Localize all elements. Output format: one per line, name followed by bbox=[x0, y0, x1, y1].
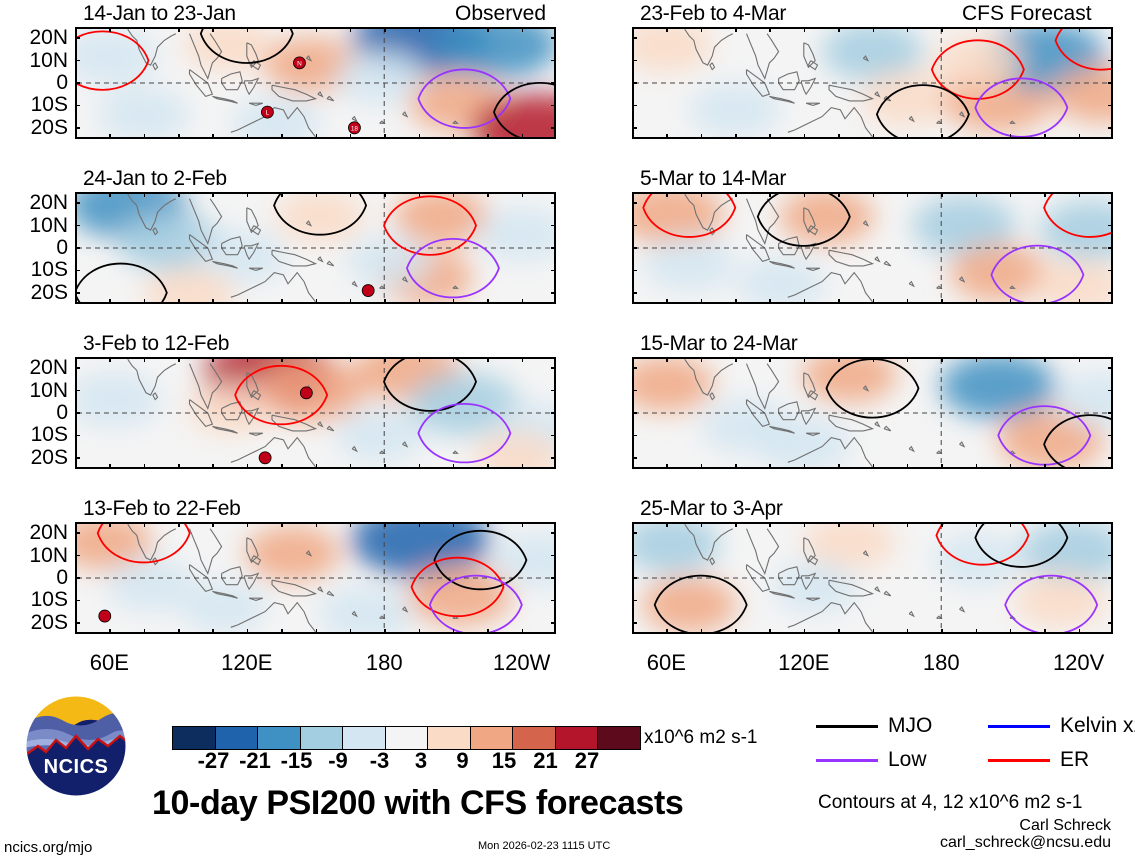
y-tick bbox=[632, 292, 637, 294]
field-plot: NL18 bbox=[77, 29, 554, 137]
panel-title: 13-Feb to 22-Feb bbox=[83, 498, 240, 519]
field-plot bbox=[634, 524, 1111, 632]
x-tick bbox=[281, 299, 283, 304]
legend-label: MJO bbox=[888, 714, 932, 738]
colorbar-swatch[interactable] bbox=[555, 727, 598, 749]
x-tick bbox=[384, 522, 386, 527]
x-tick bbox=[144, 629, 146, 634]
y-tick bbox=[75, 202, 80, 204]
x-tick bbox=[316, 192, 318, 197]
map-axes[interactable] bbox=[75, 192, 556, 304]
x-tick bbox=[281, 522, 283, 527]
x-tick bbox=[247, 522, 249, 527]
y-axis-label: 20S bbox=[0, 282, 68, 303]
y-tick bbox=[75, 270, 80, 272]
x-tick bbox=[247, 299, 249, 304]
y-tick bbox=[632, 60, 637, 62]
x-tick bbox=[976, 522, 978, 527]
author-credit: Carl Schreck carl_schreck@ncsu.edu bbox=[940, 817, 1111, 851]
legend-line-swatch bbox=[988, 725, 1050, 728]
map-axes[interactable] bbox=[632, 192, 1113, 304]
logo-wordmark: NCICS bbox=[24, 756, 128, 779]
x-tick bbox=[522, 299, 524, 304]
colorbar-tick: -27 bbox=[198, 750, 230, 772]
x-tick bbox=[666, 192, 668, 197]
y-tick bbox=[75, 532, 80, 534]
x-tick bbox=[487, 299, 489, 304]
x-tick bbox=[350, 629, 352, 634]
y-tick bbox=[551, 225, 556, 227]
y-tick bbox=[1108, 390, 1113, 392]
x-tick bbox=[384, 464, 386, 469]
y-tick bbox=[1108, 412, 1113, 414]
colorbar-swatch[interactable] bbox=[427, 727, 470, 749]
x-tick bbox=[701, 357, 703, 362]
x-tick bbox=[838, 192, 840, 197]
x-tick bbox=[350, 134, 352, 139]
y-tick bbox=[1108, 60, 1113, 62]
x-tick bbox=[701, 134, 703, 139]
colorbar-tick: -21 bbox=[239, 750, 271, 772]
colorbar-swatch[interactable] bbox=[597, 727, 640, 749]
map-axes[interactable]: NL18 bbox=[75, 27, 556, 139]
x-tick bbox=[907, 299, 909, 304]
map-axes[interactable] bbox=[632, 357, 1113, 469]
y-tick bbox=[1108, 457, 1113, 459]
x-tick bbox=[487, 357, 489, 362]
map-axes[interactable] bbox=[75, 522, 556, 634]
x-tick bbox=[178, 629, 180, 634]
x-tick bbox=[350, 299, 352, 304]
legend-line-swatch bbox=[988, 759, 1050, 762]
x-tick bbox=[976, 629, 978, 634]
x-tick bbox=[419, 192, 421, 197]
x-tick bbox=[1044, 299, 1046, 304]
x-tick bbox=[178, 522, 180, 527]
x-tick bbox=[804, 629, 806, 634]
panel-title: 23-Feb to 4-Mar bbox=[640, 3, 786, 24]
y-axis-label: 20N bbox=[0, 522, 68, 543]
x-tick bbox=[976, 299, 978, 304]
x-tick bbox=[873, 357, 875, 362]
x-tick bbox=[769, 192, 771, 197]
field-plot bbox=[634, 29, 1111, 137]
y-axis-label: 20S bbox=[0, 447, 68, 468]
x-tick bbox=[144, 464, 146, 469]
legend-line-swatch bbox=[816, 759, 878, 762]
x-tick bbox=[1079, 299, 1081, 304]
x-tick bbox=[522, 629, 524, 634]
y-tick bbox=[75, 60, 80, 62]
y-axis-label: 20N bbox=[0, 357, 68, 378]
y-tick bbox=[632, 367, 637, 369]
y-tick bbox=[632, 202, 637, 204]
y-tick bbox=[632, 622, 637, 624]
x-tick bbox=[1010, 464, 1012, 469]
y-tick bbox=[1108, 105, 1113, 107]
x-tick bbox=[144, 299, 146, 304]
y-tick bbox=[1108, 37, 1113, 39]
x-tick bbox=[1010, 629, 1012, 634]
y-tick bbox=[551, 390, 556, 392]
x-tick bbox=[522, 192, 524, 197]
x-tick bbox=[419, 357, 421, 362]
x-tick bbox=[804, 522, 806, 527]
legend-label: ER bbox=[1060, 748, 1089, 772]
contours-note: Contours at 4, 12 x10^6 m2 s-1 bbox=[818, 793, 1083, 812]
x-tick bbox=[247, 134, 249, 139]
x-tick bbox=[487, 192, 489, 197]
timestamp-label: Mon 2026-02-23 1115 UTC bbox=[478, 841, 610, 852]
panel-title: 15-Mar to 24-Mar bbox=[640, 333, 797, 354]
x-tick bbox=[976, 192, 978, 197]
x-tick bbox=[769, 134, 771, 139]
y-tick bbox=[551, 600, 556, 602]
x-tick bbox=[666, 464, 668, 469]
x-tick bbox=[907, 134, 909, 139]
y-tick bbox=[551, 247, 556, 249]
x-tick bbox=[1079, 357, 1081, 362]
y-axis-label: 10S bbox=[0, 259, 68, 280]
y-tick bbox=[75, 577, 80, 579]
x-tick bbox=[873, 134, 875, 139]
site-url-label: ncics.org/mjo bbox=[4, 840, 92, 855]
y-tick bbox=[75, 600, 80, 602]
x-tick bbox=[907, 522, 909, 527]
x-tick bbox=[735, 464, 737, 469]
column-tag: Observed bbox=[455, 3, 546, 24]
colorbar-swatch[interactable] bbox=[173, 727, 215, 749]
x-tick bbox=[144, 134, 146, 139]
x-tick bbox=[212, 357, 214, 362]
x-tick bbox=[735, 192, 737, 197]
field-plot bbox=[634, 194, 1111, 302]
page-title: 10-day PSI200 with CFS forecasts bbox=[152, 786, 683, 820]
y-axis-label: 10N bbox=[0, 215, 68, 236]
x-tick bbox=[247, 464, 249, 469]
x-tick bbox=[666, 357, 668, 362]
x-tick bbox=[1010, 522, 1012, 527]
x-tick bbox=[522, 522, 524, 527]
x-tick bbox=[419, 629, 421, 634]
y-axis-label: 20N bbox=[0, 192, 68, 213]
x-tick bbox=[178, 299, 180, 304]
y-tick bbox=[632, 225, 637, 227]
x-tick bbox=[384, 299, 386, 304]
x-tick bbox=[769, 629, 771, 634]
colorbar-tick: -15 bbox=[281, 750, 313, 772]
colorbar-swatch[interactable] bbox=[470, 727, 513, 749]
x-tick bbox=[1079, 192, 1081, 197]
x-tick bbox=[487, 629, 489, 634]
y-tick bbox=[551, 60, 556, 62]
x-tick bbox=[487, 27, 489, 32]
y-tick bbox=[1108, 532, 1113, 534]
x-tick bbox=[838, 299, 840, 304]
y-tick bbox=[1108, 600, 1113, 602]
x-tick bbox=[453, 629, 455, 634]
x-tick bbox=[316, 27, 318, 32]
x-tick bbox=[350, 522, 352, 527]
y-tick bbox=[632, 270, 637, 272]
x-tick bbox=[212, 192, 214, 197]
x-tick bbox=[1079, 629, 1081, 634]
x-tick bbox=[1010, 134, 1012, 139]
y-tick bbox=[75, 225, 80, 227]
x-tick bbox=[873, 27, 875, 32]
x-tick bbox=[350, 192, 352, 197]
svg-text:N: N bbox=[297, 60, 302, 67]
x-tick bbox=[1010, 299, 1012, 304]
y-axis-label: 10S bbox=[0, 589, 68, 610]
legend-line-swatch bbox=[816, 725, 878, 728]
field-plot bbox=[77, 194, 554, 302]
x-tick bbox=[281, 464, 283, 469]
x-tick bbox=[1079, 134, 1081, 139]
x-tick bbox=[212, 464, 214, 469]
ncics-logo[interactable]: NCICS bbox=[24, 694, 128, 798]
y-axis-label: 10N bbox=[0, 380, 68, 401]
x-tick bbox=[109, 357, 111, 362]
svg-text:18: 18 bbox=[351, 125, 359, 132]
column-tag: CFS Forecast bbox=[962, 3, 1092, 24]
x-tick bbox=[522, 27, 524, 32]
cyclone-marker bbox=[362, 285, 374, 297]
y-tick bbox=[551, 37, 556, 39]
x-tick bbox=[941, 299, 943, 304]
x-tick bbox=[907, 357, 909, 362]
x-tick bbox=[804, 27, 806, 32]
x-tick bbox=[941, 629, 943, 634]
y-tick bbox=[551, 292, 556, 294]
x-tick bbox=[522, 464, 524, 469]
y-tick bbox=[1108, 225, 1113, 227]
x-tick bbox=[1044, 629, 1046, 634]
y-tick bbox=[551, 202, 556, 204]
x-tick bbox=[316, 299, 318, 304]
x-tick bbox=[701, 464, 703, 469]
colorbar-swatch[interactable] bbox=[300, 727, 343, 749]
x-tick bbox=[735, 629, 737, 634]
colorbar[interactable] bbox=[172, 726, 641, 750]
x-axis-label: 180 bbox=[923, 652, 960, 674]
x-tick bbox=[666, 629, 668, 634]
x-tick bbox=[453, 357, 455, 362]
x-tick bbox=[144, 522, 146, 527]
x-axis-label: 60E bbox=[90, 652, 129, 674]
x-tick bbox=[350, 464, 352, 469]
y-axis-label: 20S bbox=[0, 612, 68, 633]
y-tick bbox=[551, 622, 556, 624]
y-tick bbox=[1108, 292, 1113, 294]
colorbar-swatch[interactable] bbox=[215, 727, 258, 749]
x-tick bbox=[873, 299, 875, 304]
y-tick bbox=[75, 127, 80, 129]
y-tick bbox=[75, 555, 80, 557]
x-tick bbox=[247, 27, 249, 32]
colorbar-swatch[interactable] bbox=[385, 727, 428, 749]
y-tick bbox=[632, 127, 637, 129]
y-tick bbox=[551, 435, 556, 437]
x-tick bbox=[976, 134, 978, 139]
colorbar-swatch[interactable] bbox=[512, 727, 555, 749]
x-tick bbox=[178, 464, 180, 469]
y-tick bbox=[632, 37, 637, 39]
legend-label: Low bbox=[888, 748, 927, 772]
y-tick bbox=[75, 37, 80, 39]
x-tick bbox=[1044, 357, 1046, 362]
x-tick bbox=[109, 27, 111, 32]
y-axis-label: 10N bbox=[0, 50, 68, 71]
x-tick bbox=[976, 357, 978, 362]
y-tick bbox=[632, 577, 637, 579]
y-tick bbox=[1108, 127, 1113, 129]
x-tick bbox=[419, 299, 421, 304]
x-tick bbox=[907, 27, 909, 32]
y-tick bbox=[1108, 82, 1113, 84]
x-tick bbox=[178, 134, 180, 139]
x-tick bbox=[1044, 192, 1046, 197]
y-tick bbox=[551, 367, 556, 369]
x-tick bbox=[1079, 522, 1081, 527]
x-tick bbox=[350, 27, 352, 32]
x-tick bbox=[281, 357, 283, 362]
x-tick bbox=[838, 27, 840, 32]
x-tick bbox=[1010, 27, 1012, 32]
cyclone-marker: N bbox=[293, 57, 305, 69]
cyclone-marker bbox=[300, 387, 312, 399]
svg-text:L: L bbox=[266, 110, 270, 117]
field-plot bbox=[77, 359, 554, 467]
x-tick bbox=[384, 357, 386, 362]
x-tick bbox=[838, 629, 840, 634]
panel-title: 3-Feb to 12-Feb bbox=[83, 333, 229, 354]
x-tick bbox=[804, 357, 806, 362]
author-email: carl_schreck@ncsu.edu bbox=[940, 834, 1111, 851]
map-axes[interactable] bbox=[632, 27, 1113, 139]
x-tick bbox=[247, 192, 249, 197]
x-tick bbox=[838, 522, 840, 527]
y-tick bbox=[1108, 247, 1113, 249]
y-axis-label: 10N bbox=[0, 545, 68, 566]
y-tick bbox=[75, 105, 80, 107]
colorbar-tick: 15 bbox=[492, 750, 516, 772]
y-tick bbox=[632, 412, 637, 414]
y-tick bbox=[632, 247, 637, 249]
x-tick bbox=[316, 522, 318, 527]
y-tick bbox=[75, 435, 80, 437]
x-tick bbox=[109, 464, 111, 469]
x-tick bbox=[735, 522, 737, 527]
colorbar-tick: 9 bbox=[456, 750, 468, 772]
x-tick bbox=[769, 357, 771, 362]
x-axis-label: 120W bbox=[493, 652, 550, 674]
x-tick bbox=[453, 522, 455, 527]
x-tick bbox=[212, 629, 214, 634]
y-tick bbox=[1108, 367, 1113, 369]
y-tick bbox=[551, 105, 556, 107]
x-tick bbox=[144, 192, 146, 197]
panel-title: 24-Jan to 2-Feb bbox=[83, 168, 227, 189]
x-tick bbox=[873, 464, 875, 469]
x-tick bbox=[281, 629, 283, 634]
x-tick bbox=[941, 192, 943, 197]
y-tick bbox=[551, 555, 556, 557]
x-tick bbox=[109, 299, 111, 304]
x-tick bbox=[1010, 192, 1012, 197]
x-tick bbox=[453, 299, 455, 304]
map-axes[interactable] bbox=[632, 522, 1113, 634]
x-tick bbox=[735, 134, 737, 139]
x-tick bbox=[144, 357, 146, 362]
x-tick bbox=[769, 522, 771, 527]
y-tick bbox=[75, 622, 80, 624]
x-tick bbox=[769, 27, 771, 32]
x-axis-label: 180 bbox=[366, 652, 403, 674]
x-tick bbox=[419, 522, 421, 527]
y-tick bbox=[75, 82, 80, 84]
x-tick bbox=[907, 464, 909, 469]
y-axis-label: 0 bbox=[0, 237, 68, 258]
colorbar-swatch[interactable] bbox=[257, 727, 300, 749]
map-axes[interactable] bbox=[75, 357, 556, 469]
y-tick bbox=[551, 270, 556, 272]
x-tick bbox=[941, 522, 943, 527]
cyclone-marker: L bbox=[261, 106, 273, 118]
y-tick bbox=[75, 247, 80, 249]
x-tick bbox=[769, 464, 771, 469]
x-tick bbox=[316, 134, 318, 139]
logo-graphic bbox=[24, 694, 128, 798]
x-axis-label: 120E bbox=[778, 652, 829, 674]
y-axis-label: 0 bbox=[0, 72, 68, 93]
x-tick bbox=[666, 27, 668, 32]
x-tick bbox=[735, 299, 737, 304]
y-tick bbox=[632, 390, 637, 392]
y-tick bbox=[75, 292, 80, 294]
y-tick bbox=[75, 412, 80, 414]
x-tick bbox=[666, 522, 668, 527]
y-axis-label: 0 bbox=[0, 402, 68, 423]
x-tick bbox=[907, 192, 909, 197]
x-tick bbox=[522, 134, 524, 139]
x-tick bbox=[350, 357, 352, 362]
y-tick bbox=[632, 532, 637, 534]
colorbar-swatch[interactable] bbox=[342, 727, 385, 749]
x-tick bbox=[419, 464, 421, 469]
x-tick bbox=[1044, 27, 1046, 32]
colorbar-tick: 3 bbox=[415, 750, 427, 772]
x-tick bbox=[384, 27, 386, 32]
x-tick bbox=[453, 134, 455, 139]
x-tick bbox=[453, 27, 455, 32]
x-tick bbox=[487, 134, 489, 139]
x-tick bbox=[453, 464, 455, 469]
x-tick bbox=[212, 27, 214, 32]
x-tick bbox=[212, 522, 214, 527]
x-tick bbox=[384, 192, 386, 197]
y-tick bbox=[632, 105, 637, 107]
y-tick bbox=[632, 435, 637, 437]
x-tick bbox=[178, 27, 180, 32]
x-tick bbox=[419, 27, 421, 32]
x-tick bbox=[487, 522, 489, 527]
x-tick bbox=[735, 27, 737, 32]
x-axis-label: 120E bbox=[221, 652, 272, 674]
x-tick bbox=[1010, 357, 1012, 362]
x-tick bbox=[701, 629, 703, 634]
x-tick bbox=[384, 134, 386, 139]
